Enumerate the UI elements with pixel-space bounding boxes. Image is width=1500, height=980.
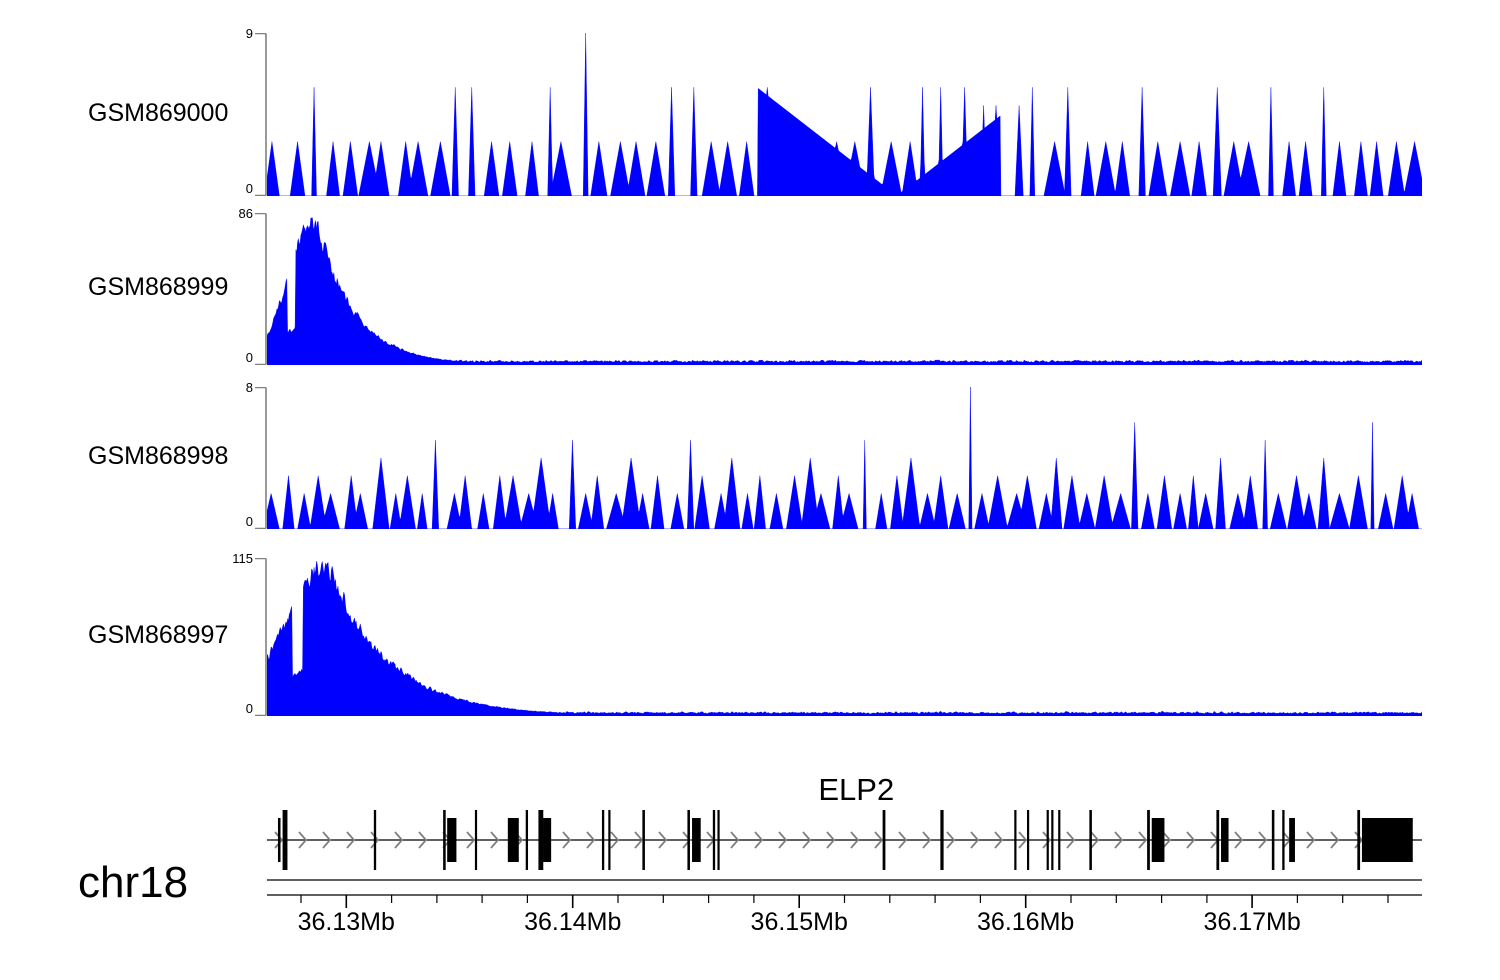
y-axis-min-label: 0 <box>246 350 253 365</box>
signal-plot <box>267 387 1422 529</box>
y-axis-bracket <box>255 387 267 529</box>
axis-tick-label: 36.14Mb <box>524 908 621 937</box>
y-axis-min-label: 0 <box>246 181 253 196</box>
track-label-GSM868999: GSM868999 <box>88 273 228 302</box>
axis-tick-label: 36.16Mb <box>977 908 1074 937</box>
signal-track: GSM8689971150 <box>0 558 1500 716</box>
track-label-GSM868997: GSM868997 <box>88 621 228 650</box>
track-label-GSM869000: GSM869000 <box>88 99 228 128</box>
signal-plot <box>267 33 1422 196</box>
genome-browser-view: GSM86900090GSM868999860GSM86899880GSM868… <box>0 0 1500 980</box>
signal-plot <box>267 558 1422 716</box>
y-axis-max-label: 9 <box>246 26 253 41</box>
gene-name-label: ELP2 <box>818 772 894 808</box>
y-axis-bracket <box>255 213 267 365</box>
y-axis-bracket <box>255 33 267 196</box>
y-axis-min-label: 0 <box>246 514 253 529</box>
axis-tick-label: 36.13Mb <box>298 908 395 937</box>
y-axis-max-label: 86 <box>239 206 253 221</box>
axis-tick-label: 36.17Mb <box>1203 908 1300 937</box>
chromosome-label: chr18 <box>78 858 188 908</box>
signal-plot <box>267 213 1422 365</box>
y-axis-max-label: 115 <box>232 551 253 566</box>
gene-model-track: ELP2 <box>0 780 1500 870</box>
signal-track: GSM86899880 <box>0 387 1500 529</box>
signal-track: GSM868999860 <box>0 213 1500 365</box>
y-axis-max-label: 8 <box>246 380 253 395</box>
genome-ruler <box>267 878 1422 908</box>
y-axis-min-label: 0 <box>246 701 253 716</box>
gene-model-plot <box>267 810 1422 870</box>
signal-track: GSM86900090 <box>0 33 1500 196</box>
y-axis-bracket <box>255 558 267 716</box>
axis-tick-label: 36.15Mb <box>751 908 848 937</box>
track-label-GSM868998: GSM868998 <box>88 442 228 471</box>
